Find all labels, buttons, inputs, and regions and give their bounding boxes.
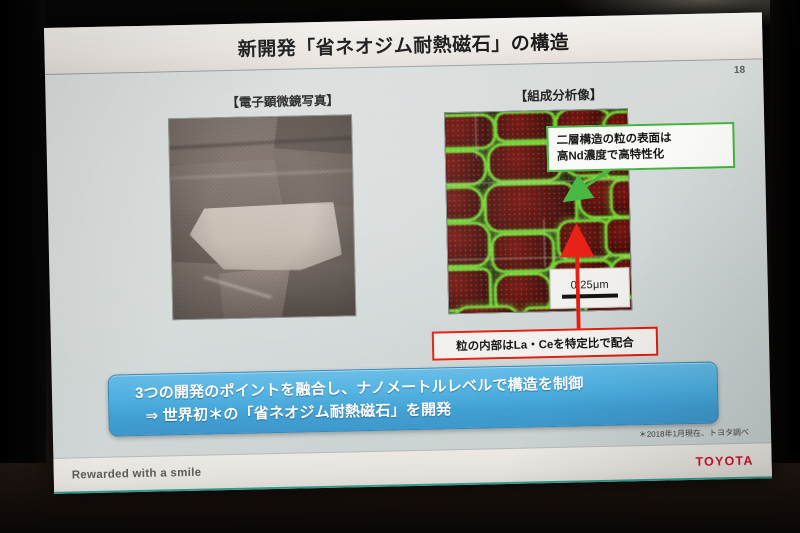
- sem-vignette: [169, 115, 355, 319]
- slide-footnote: ＊2018年1月現在、トヨタ調べ: [639, 427, 749, 440]
- room-right-edge: [770, 0, 800, 533]
- toyota-logo: TOYOTA: [695, 453, 753, 468]
- scale-bar-rule: [562, 293, 618, 298]
- summary-banner: 3つの開発のポイントを融合し、ナノメートルレベルで構造を制御 ⇒ 世界初＊の「省…: [108, 361, 719, 436]
- right-panel-label: 【組成分析像】: [473, 83, 643, 106]
- green-callout-box: 二層構造の粒の表面は 高Nd濃度で高特性化: [546, 122, 735, 172]
- red-callout-box: 粒の内部はLa・Ceを特定比で配合: [432, 327, 659, 361]
- scale-bar-box: 0.25μm: [549, 267, 630, 309]
- green-callout-line-2: 高Nd濃度で高特性化: [557, 145, 733, 165]
- projected-slide: 新開発「省ネオジム耐熱磁石」の構造 18 【電子顕微鏡写真】 【組成分析像】: [44, 12, 772, 494]
- room-left-edge: [0, 0, 46, 533]
- footer-tagline: Rewarded with a smile: [72, 466, 202, 481]
- red-callout-text: 粒の内部はLa・Ceを特定比で配合: [456, 334, 634, 354]
- slide-canvas: 新開発「省ネオジム耐熱磁石」の構造 18 【電子顕微鏡写真】 【組成分析像】: [44, 12, 772, 494]
- electron-microscope-image: [168, 114, 356, 320]
- scale-bar-label: 0.25μm: [571, 278, 609, 291]
- slide-page-number: 18: [734, 65, 745, 76]
- left-panel-label: 【電子顕微鏡写真】: [197, 89, 367, 112]
- page-title: 新開発「省ネオジム耐熱磁石」の構造: [237, 27, 569, 61]
